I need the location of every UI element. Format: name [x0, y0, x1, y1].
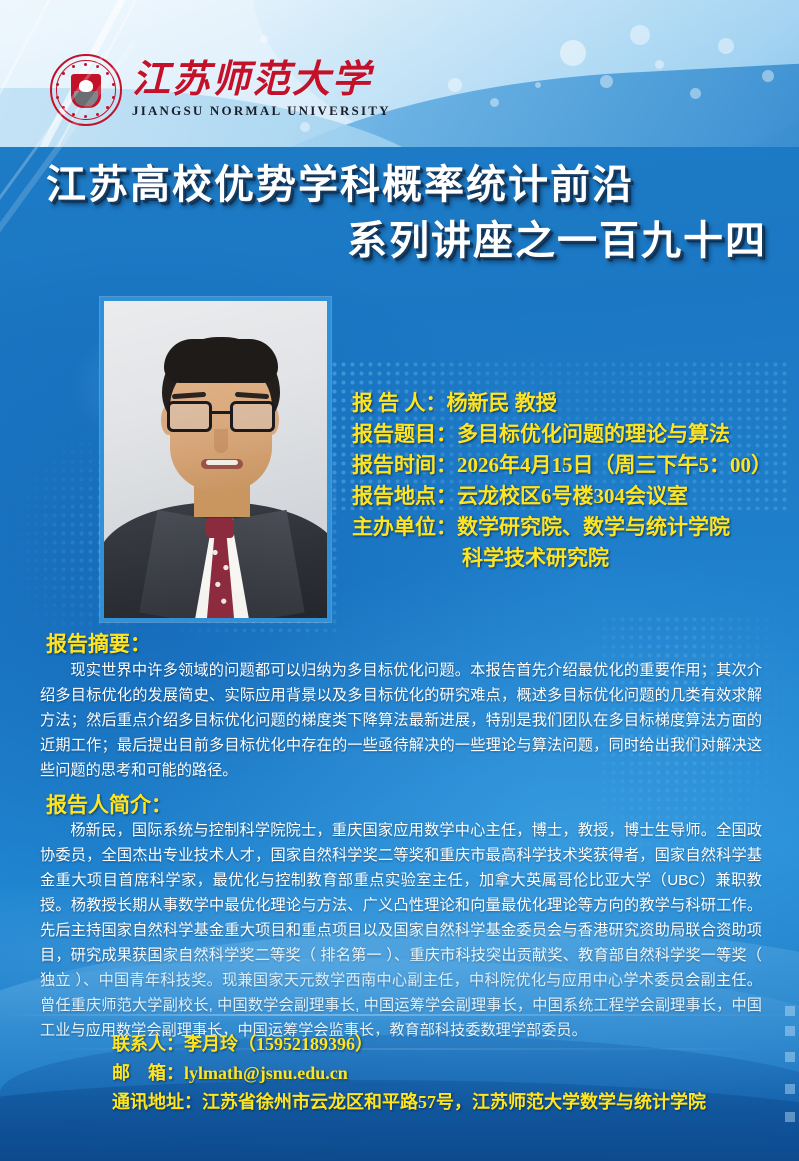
- info-row-host-2: 科学技术研究院: [352, 543, 782, 574]
- poster-header: 江苏师范大学 JIANGSU NORMAL UNIVERSITY: [0, 0, 799, 147]
- abstract-body: 现实世界中许多领域的问题都可以归纳为多目标优化问题。本报告首先介绍最优化的重要作…: [40, 658, 762, 783]
- contact-row-address: 通讯地址：江苏省徐州市云龙区和平路57号，江苏师范大学数学与统计学院: [112, 1088, 772, 1117]
- contact-label-person: 联系人：: [112, 1034, 184, 1054]
- right-chip-decor: [771, 1000, 799, 1130]
- footer-highlight-line: [0, 1014, 799, 1016]
- title-line-2: 系列讲座之一百九十四: [347, 208, 767, 266]
- info-label-place: 报告地点：: [352, 484, 457, 508]
- info-value-host-2: 科学技术研究院: [462, 546, 609, 570]
- university-name-cn: 江苏师范大学: [132, 61, 391, 99]
- speaker-photo: [100, 297, 331, 622]
- abstract-paragraph: 现实世界中许多领域的问题都可以归纳为多目标优化问题。本报告首先介绍最优化的重要作…: [40, 658, 762, 783]
- lecture-info-block: 报 告 人：杨新民 教授 报告题目：多目标优化问题的理论与算法 报告时间：202…: [352, 388, 782, 574]
- bio-heading: 报告人简介：: [46, 789, 172, 819]
- contact-value-person: 李月玲（15952189396）: [184, 1034, 373, 1054]
- info-value-time: 2026年4月15日（周三下午5：00）: [457, 453, 772, 477]
- info-value-place: 云龙校区6号楼304会议室: [457, 484, 688, 508]
- info-row-topic: 报告题目：多目标优化问题的理论与算法: [352, 419, 782, 450]
- contact-block: 联系人：李月玲（15952189396） 邮 箱：lylmath@jsnu.ed…: [112, 1030, 772, 1117]
- poster-root: 江苏师范大学 JIANGSU NORMAL UNIVERSITY 江苏高校优势学…: [0, 0, 799, 1161]
- info-label-speaker: 报 告 人：: [352, 391, 447, 415]
- bubble-decor: [718, 38, 734, 54]
- info-label-topic: 报告题目：: [352, 422, 457, 446]
- bubble-decor: [655, 60, 664, 69]
- info-row-place: 报告地点：云龙校区6号楼304会议室: [352, 481, 782, 512]
- bubble-decor: [600, 75, 613, 88]
- title-line-1: 江苏高校优势学科概率统计前沿: [46, 152, 634, 210]
- contact-label-email: 邮 箱：: [112, 1063, 184, 1083]
- glasses-icon: [167, 401, 275, 433]
- abstract-heading: 报告摘要：: [46, 628, 151, 658]
- bubble-decor: [260, 35, 268, 43]
- contact-value-address: 江苏省徐州市云龙区和平路57号，江苏师范大学数学与统计学院: [202, 1092, 706, 1112]
- bubble-decor: [560, 40, 586, 66]
- contact-row-email: 邮 箱：lylmath@jsnu.edu.cn: [112, 1059, 772, 1088]
- bio-paragraph: 杨新民，国际系统与控制科学院院士，重庆国家应用数学中心主任，博士，教授，博士生导…: [40, 818, 762, 1043]
- bubble-decor: [762, 70, 774, 82]
- bubble-decor: [490, 98, 499, 107]
- contact-value-email[interactable]: lylmath@jsnu.edu.cn: [184, 1063, 348, 1083]
- info-label-host: 主办单位：: [352, 515, 457, 539]
- bio-body: 杨新民，国际系统与控制科学院院士，重庆国家应用数学中心主任，博士，教授，博士生导…: [40, 818, 762, 1043]
- contact-label-address: 通讯地址：: [112, 1092, 202, 1112]
- info-value-host: 数学研究院、数学与统计学院: [457, 515, 730, 539]
- info-row-host: 主办单位：数学研究院、数学与统计学院: [352, 512, 782, 543]
- info-row-speaker: 报 告 人：杨新民 教授: [352, 388, 782, 419]
- bubble-decor: [535, 82, 541, 88]
- bubble-decor: [630, 25, 650, 45]
- contact-row-person: 联系人：李月玲（15952189396）: [112, 1030, 772, 1059]
- info-value-speaker: 杨新民 教授: [447, 391, 557, 415]
- university-name-en: JIANGSU NORMAL UNIVERSITY: [132, 103, 391, 119]
- bubble-decor: [690, 88, 701, 99]
- info-row-time: 报告时间：2026年4月15日（周三下午5：00）: [352, 450, 782, 481]
- info-label-time: 报告时间：: [352, 453, 457, 477]
- poster-title: 江苏高校优势学科概率统计前沿 系列讲座之一百九十四: [0, 146, 799, 276]
- info-value-topic: 多目标优化问题的理论与算法: [457, 422, 730, 446]
- bubble-decor: [448, 78, 462, 92]
